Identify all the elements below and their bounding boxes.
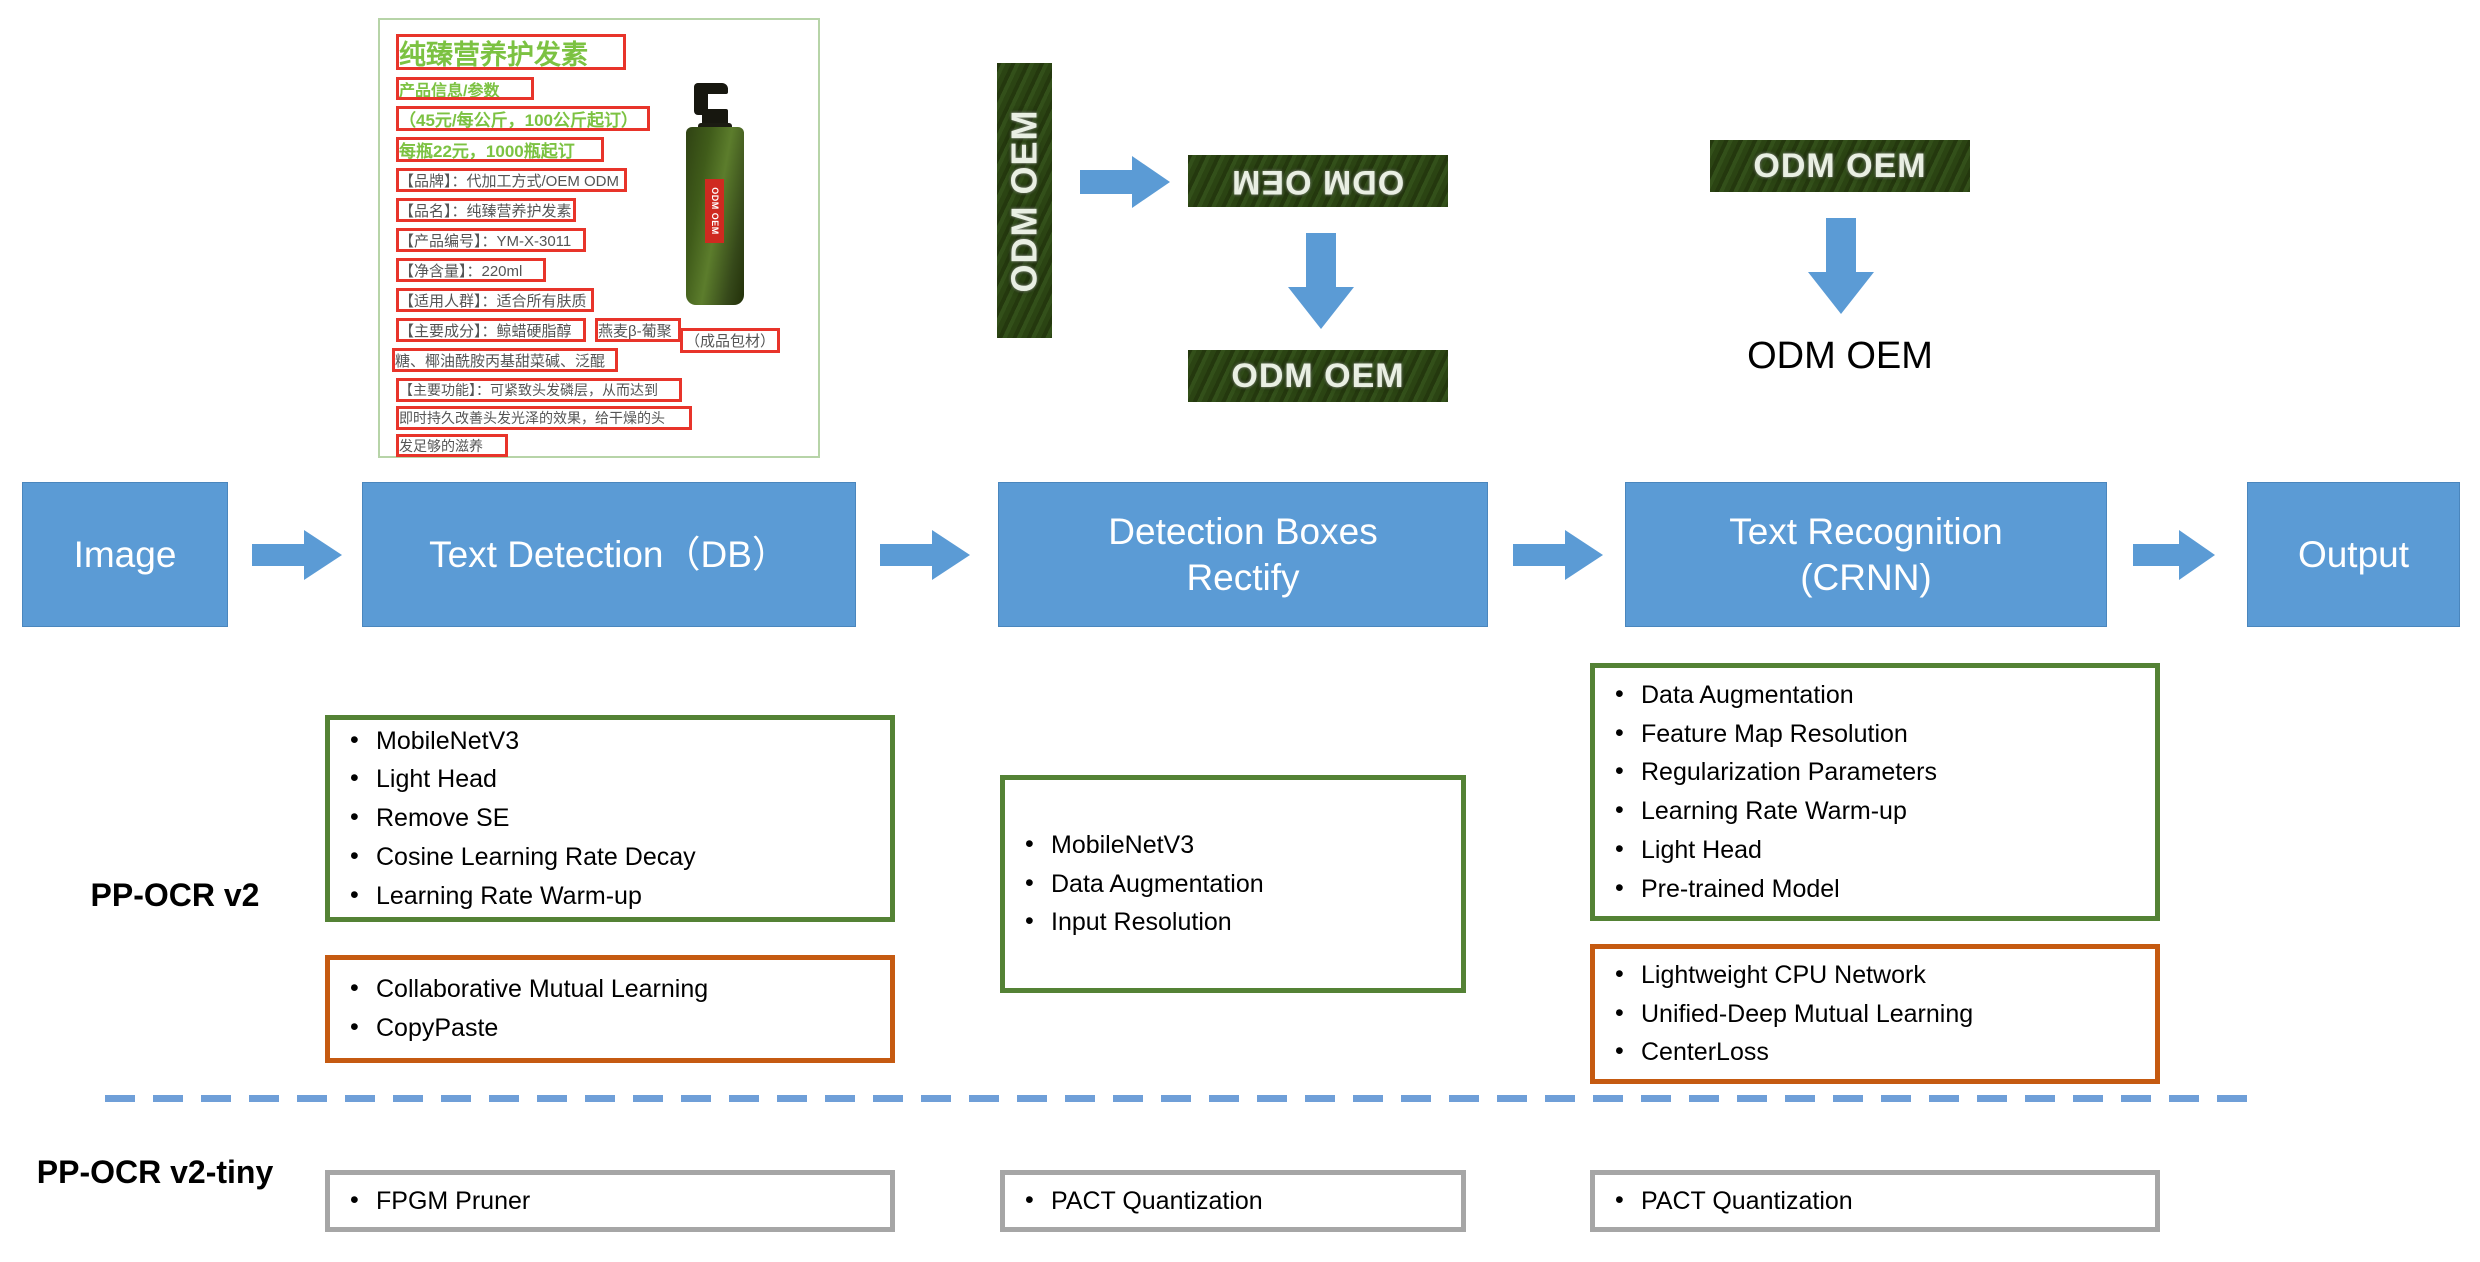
row-label-text: PP-OCR v2 xyxy=(91,877,260,913)
ocr-text: 【产品编号】：YM-X-3011 xyxy=(399,230,571,251)
pipeline-step-label: Text Recognition (CRNN) xyxy=(1729,509,2003,599)
detection-improvements-green-box: MobileNetV3 Light Head Remove SE Cosine … xyxy=(325,715,895,922)
ocr-text: 糖、椰油酰胺丙基甜菜碱、泛醌 xyxy=(395,350,605,371)
ocr-text: 燕麦β-葡聚 xyxy=(598,320,672,341)
arrow-right-4 xyxy=(2133,530,2219,580)
list-item: MobileNetV3 xyxy=(376,722,890,761)
pipeline-step-label: Output xyxy=(2298,532,2409,577)
ocr-text: 【品牌】：代加工方式/OEM ODM xyxy=(399,170,619,191)
pipeline-step-label: Detection Boxes Rectify xyxy=(1108,509,1377,599)
recognition-output-text: ODM OEM xyxy=(1710,330,1970,382)
list-item: Light Head xyxy=(376,760,890,799)
bullet-list: Data Augmentation Feature Map Resolution… xyxy=(1595,676,2155,909)
arrow-right-3 xyxy=(1513,530,1605,580)
list-item: Lightweight CPU Network xyxy=(1641,956,2155,995)
crop-flipped-odm-oem: ODM OEM xyxy=(1188,155,1448,207)
list-item: FPGM Pruner xyxy=(376,1182,890,1221)
list-item: Remove SE xyxy=(376,799,890,838)
pipeline-step-text-detection[interactable]: Text Detection（DB） xyxy=(362,482,856,627)
pipeline-step-detection-boxes-rectify[interactable]: Detection Boxes Rectify xyxy=(998,482,1488,627)
ocr-text: （45元/每公斤，100公斤起订） xyxy=(399,106,638,131)
list-item: Data Augmentation xyxy=(1641,676,2155,715)
row-label-ppocr-v2-tiny: PP-OCR v2-tiny xyxy=(30,1153,280,1191)
crop-recognition-input: ODM OEM xyxy=(1710,140,1970,192)
tiny-rectify-box: PACT Quantization xyxy=(1000,1170,1466,1232)
ocr-detection-box: 【品名】：纯臻营养护发素 xyxy=(396,198,576,222)
list-item: Data Augmentation xyxy=(1051,865,1461,904)
list-item: Learning Rate Warm-up xyxy=(376,877,890,916)
list-item: Pre-trained Model xyxy=(1641,870,2155,909)
ocr-text: 【主要成分】：鲸蜡硬脂醇 xyxy=(399,320,572,341)
pipeline-step-text-recognition[interactable]: Text Recognition (CRNN) xyxy=(1625,482,2107,627)
ocr-detection-box: 【主要功能】：可紧致头发磷层，从而达到 xyxy=(396,378,682,402)
bottle-label-text: ODM OEM xyxy=(710,187,720,235)
row-label-text: PP-OCR v2-tiny xyxy=(37,1154,273,1190)
ocr-detection-box: 【品牌】：代加工方式/OEM ODM xyxy=(396,168,627,192)
ocr-text: 每瓶22元，1000瓶起订 xyxy=(399,137,575,162)
list-item: CenterLoss xyxy=(1641,1033,2155,1072)
list-item: Input Resolution xyxy=(1051,903,1461,942)
list-item: Feature Map Resolution xyxy=(1641,715,2155,754)
pipeline-step-label: Image xyxy=(74,532,177,577)
ocr-detection-box: 燕麦β-葡聚 xyxy=(595,318,681,342)
crop-rectified-odm-oem: ODM OEM xyxy=(1188,350,1448,402)
bullet-list: MobileNetV3 Data Augmentation Input Reso… xyxy=(1005,826,1461,942)
bullet-list: FPGM Pruner xyxy=(330,1182,890,1221)
ocr-text: 即时持久改善头发光泽的效果，给干燥的头 xyxy=(399,408,665,428)
ocr-detection-box: 即时持久改善头发光泽的效果，给干燥的头 xyxy=(396,406,692,430)
arrow-down-recognition xyxy=(1808,218,1874,314)
list-item: Regularization Parameters xyxy=(1641,753,2155,792)
bullet-list: PACT Quantization xyxy=(1005,1182,1461,1221)
tiny-recognition-box: PACT Quantization xyxy=(1590,1170,2160,1232)
list-item: PACT Quantization xyxy=(1641,1182,2155,1221)
list-item: Learning Rate Warm-up xyxy=(1641,792,2155,831)
arrow-down-rectify xyxy=(1288,233,1354,329)
crop-text: ODM OEM xyxy=(1753,147,1926,186)
list-item: Collaborative Mutual Learning xyxy=(376,970,890,1009)
list-item: MobileNetV3 xyxy=(1051,826,1461,865)
bullet-list: MobileNetV3 Light Head Remove SE Cosine … xyxy=(330,722,890,916)
product-sample-image: 纯臻营养护发素 产品信息/参数 （45元/每公斤，100公斤起订） 每瓶22元，… xyxy=(378,18,820,458)
section-divider xyxy=(105,1095,2265,1102)
ocr-text: 【净含量】：220ml xyxy=(399,260,522,281)
pipeline-step-image[interactable]: Image xyxy=(22,482,228,627)
arrow-right-2 xyxy=(880,530,972,580)
ocr-detection-box: 每瓶22元，1000瓶起订 xyxy=(396,137,604,162)
pipeline-step-output[interactable]: Output xyxy=(2247,482,2460,627)
detection-improvements-orange-box: Collaborative Mutual Learning CopyPaste xyxy=(325,955,895,1063)
bullet-list: Lightweight CPU Network Unified-Deep Mut… xyxy=(1595,956,2155,1072)
output-text: ODM OEM xyxy=(1747,335,1933,378)
crop-text: ODM OEM xyxy=(1231,162,1404,201)
ocr-text: 产品信息/参数 xyxy=(399,77,499,100)
product-bottle-photo: ODM OEM xyxy=(672,75,758,305)
bullet-list: PACT Quantization xyxy=(1595,1182,2155,1221)
ocr-text: 【品名】：纯臻营养护发素 xyxy=(399,200,572,221)
ocr-text: 发足够的滋养 xyxy=(399,436,483,456)
list-item: PACT Quantization xyxy=(1051,1182,1461,1221)
ocr-detection-box: 【产品编号】：YM-X-3011 xyxy=(396,228,586,252)
bottle-label: ODM OEM xyxy=(705,179,724,243)
recognition-improvements-orange-box: Lightweight CPU Network Unified-Deep Mut… xyxy=(1590,944,2160,1084)
recognition-improvements-green-box: Data Augmentation Feature Map Resolution… xyxy=(1590,663,2160,921)
ocr-text: 纯臻营养护发素 xyxy=(399,34,588,70)
ocr-detection-box: （45元/每公斤，100公斤起订） xyxy=(396,106,650,131)
ocr-detection-box: （成品包材） xyxy=(680,328,780,353)
ocr-detection-box: 纯臻营养护发素 xyxy=(396,34,626,70)
ocr-detection-box: 产品信息/参数 xyxy=(396,77,534,100)
row-label-ppocr-v2: PP-OCR v2 xyxy=(40,876,310,914)
list-item: Cosine Learning Rate Decay xyxy=(376,838,890,877)
ocr-detection-box: 发足够的滋养 xyxy=(396,434,508,457)
ocr-detection-box: 糖、椰油酰胺丙基甜菜碱、泛醌 xyxy=(392,348,618,372)
tiny-detection-box: FPGM Pruner xyxy=(325,1170,895,1232)
ocr-text: （成品包材） xyxy=(685,330,775,351)
pipeline-step-label: Text Detection（DB） xyxy=(429,532,789,577)
bullet-list: Collaborative Mutual Learning CopyPaste xyxy=(330,970,890,1048)
ocr-text: 【主要功能】：可紧致头发磷层，从而达到 xyxy=(399,380,658,400)
list-item: Light Head xyxy=(1641,831,2155,870)
list-item: Unified-Deep Mutual Learning xyxy=(1641,995,2155,1034)
crop-text: ODM OEM xyxy=(1004,109,1046,292)
crop-text: ODM OEM xyxy=(1231,357,1404,396)
ocr-detection-box: 【适用人群】：适合所有肤质 xyxy=(396,288,594,312)
arrow-right-rectify xyxy=(1080,156,1170,208)
arrow-right-1 xyxy=(252,530,344,580)
list-item: CopyPaste xyxy=(376,1009,890,1048)
ocr-detection-box: 【主要成分】：鲸蜡硬脂醇 xyxy=(396,318,586,342)
ocr-detection-box: 【净含量】：220ml xyxy=(396,258,546,282)
ocr-text: 【适用人群】：适合所有肤质 xyxy=(399,290,587,311)
crop-vertical-odm-oem: ODM OEM xyxy=(997,63,1052,338)
rectify-improvements-green-box: MobileNetV3 Data Augmentation Input Reso… xyxy=(1000,775,1466,993)
